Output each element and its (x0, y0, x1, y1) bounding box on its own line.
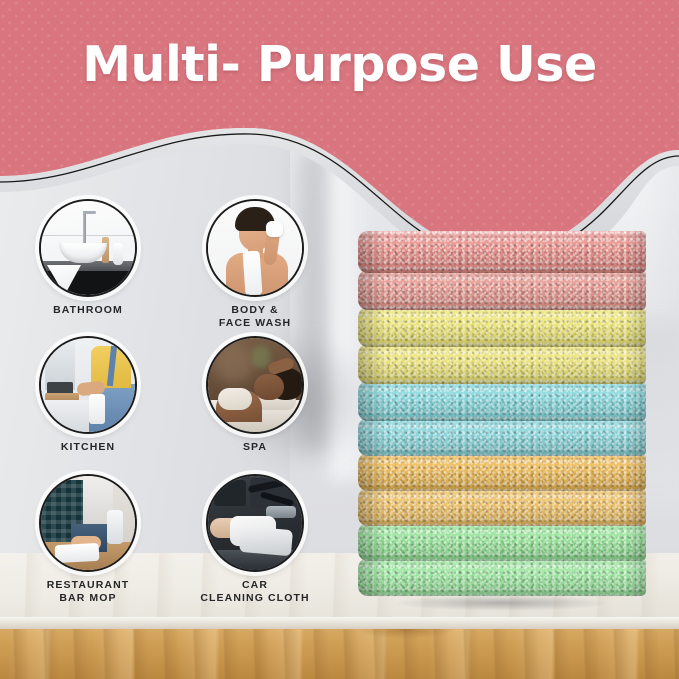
towel-right-edge (626, 381, 646, 421)
towel-layer (358, 453, 646, 491)
towel-shading (358, 418, 646, 456)
towel-left-fold (358, 344, 384, 384)
label-line-1: SPA (203, 441, 307, 454)
towel-shading (358, 523, 646, 561)
wood-knot (330, 629, 480, 679)
towel-left-fold (358, 231, 384, 273)
feature-label: BODY & FACE WASH (203, 304, 307, 329)
feature-label: CAR CLEANING CLOTH (199, 579, 311, 604)
towel-stack (358, 231, 648, 611)
towel-right-edge (626, 488, 646, 526)
face-wash-icon (206, 199, 304, 297)
towel-left-fold (358, 558, 384, 596)
towel-shading (358, 381, 646, 421)
towel-layer (358, 381, 646, 421)
kitchen-icon (39, 336, 137, 434)
feature-label: SPA (203, 441, 307, 454)
towel-shading (358, 270, 646, 310)
towel-right-edge (626, 307, 646, 347)
feature-car-cleaning-cloth[interactable]: CAR CLEANING CLOTH (199, 474, 311, 604)
towel-shading (358, 453, 646, 491)
label-line-2: BAR MOP (36, 592, 140, 605)
feature-body-face-wash[interactable]: BODY & FACE WASH (203, 199, 307, 329)
towel-layer (358, 558, 646, 596)
feature-kitchen[interactable]: KITCHEN (36, 336, 140, 454)
label-line-2: FACE WASH (203, 317, 307, 330)
restaurant-bar-mop-icon (39, 474, 137, 572)
towel-left-fold (358, 381, 384, 421)
label-line-1: BODY & (203, 304, 307, 317)
spa-icon (206, 336, 304, 434)
bathroom-sink-icon (39, 199, 137, 297)
towel-left-fold (358, 488, 384, 526)
towel-layer (358, 270, 646, 310)
towel-left-fold (358, 307, 384, 347)
label-line-1: CAR (199, 579, 311, 592)
towel-left-fold (358, 418, 384, 456)
feature-label: RESTAURANT BAR MOP (36, 579, 140, 604)
label-line-1: BATHROOM (36, 304, 140, 317)
infographic-canvas: Multi- Purpose Use BATHROOM BO (0, 0, 679, 679)
towel-right-edge (626, 231, 646, 273)
towel-layer (358, 418, 646, 456)
label-line-2: CLEANING CLOTH (199, 592, 311, 605)
car-cleaning-cloth-icon (206, 474, 304, 572)
towel-right-edge (626, 558, 646, 596)
towel-layer (358, 523, 646, 561)
towel-layer (358, 344, 646, 384)
towel-left-fold (358, 270, 384, 310)
towel-left-fold (358, 453, 384, 491)
towel-shading (358, 558, 646, 596)
feature-label: BATHROOM (36, 304, 140, 317)
towel-shading (358, 231, 646, 273)
towel-right-edge (626, 418, 646, 456)
feature-spa[interactable]: SPA (203, 336, 307, 454)
towel-layer (358, 307, 646, 347)
towel-shading (358, 488, 646, 526)
towel-layer (358, 488, 646, 526)
label-line-1: RESTAURANT (36, 579, 140, 592)
feature-label: KITCHEN (36, 441, 140, 454)
towel-layer (358, 231, 646, 273)
towel-right-edge (626, 270, 646, 310)
towel-shading (358, 307, 646, 347)
label-line-1: KITCHEN (36, 441, 140, 454)
page-title: Multi- Purpose Use (0, 36, 679, 93)
towel-right-edge (626, 453, 646, 491)
towel-right-edge (626, 523, 646, 561)
towel-shading (358, 344, 646, 384)
feature-restaurant-bar-mop[interactable]: RESTAURANT BAR MOP (36, 474, 140, 604)
feature-bathroom[interactable]: BATHROOM (36, 199, 140, 317)
towel-left-fold (358, 523, 384, 561)
towel-right-edge (626, 344, 646, 384)
